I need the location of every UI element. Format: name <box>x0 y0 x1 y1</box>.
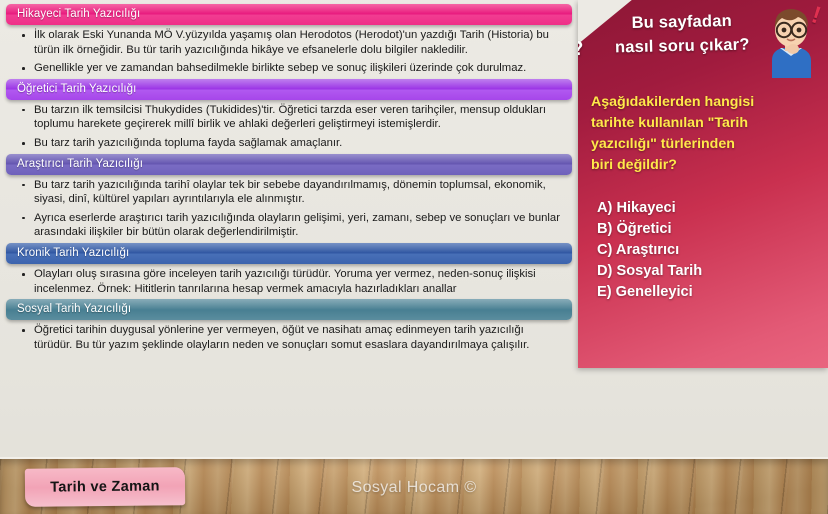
bullet-item: Olayları oluş sırasına göre inceleyen ta… <box>34 267 564 296</box>
question-text: Aşağıdakilerden hangisi tarihte kullanıl… <box>591 92 815 176</box>
answer-option-e[interactable]: E) Genelleyici <box>597 282 815 303</box>
section-block: Öğretici Tarih Yazıcılığı Bu tarzın ilk … <box>6 79 572 151</box>
question-line: yazıcılığı" türlerinden <box>591 134 815 155</box>
section-header-hikayeci: Hikayeci Tarih Yazıcılığı <box>6 4 572 25</box>
bullet-item: İlk olarak Eski Yunanda MÖ V.yüzyılda ya… <box>34 28 564 57</box>
footer-wood-bar: Tarih ve Zaman Sosyal Hocam © <box>0 457 828 514</box>
topic-tag: Tarih ve Zaman <box>25 467 185 507</box>
section-header-sosyal: Sosyal Tarih Yazıcılığı <box>6 299 572 320</box>
bullet-item: Bu tarzın ilk temsilcisi Thukydides (Tuk… <box>34 103 564 132</box>
question-line: biri değildir? <box>591 155 815 176</box>
section-block: Sosyal Tarih Yazıcılığı Öğretici tarihin… <box>6 299 572 352</box>
question-panel-title: Bu sayfadan nasıl soru çıkar? <box>592 8 773 60</box>
section-header-ogretici: Öğretici Tarih Yazıcılığı <box>6 79 572 100</box>
slide-canvas: Hikayeci Tarih Yazıcılığı İlk olarak Esk… <box>0 0 828 514</box>
section-bullets-kronik: Olayları oluş sırasına göre inceleyen ta… <box>6 267 572 296</box>
answer-option-a[interactable]: A) Hikayeci <box>597 198 815 219</box>
topic-tag-label: Tarih ve Zaman <box>50 478 160 495</box>
bullet-item: Bu tarz tarih yazıcılığında tarihî olayl… <box>34 178 564 207</box>
bullet-item: Bu tarz tarih yazıcılığında topluma fayd… <box>34 136 564 151</box>
answer-option-d[interactable]: D) Sosyal Tarih <box>597 261 815 282</box>
question-panel: Bu sayfadan nasıl soru çıkar? ! <box>578 0 828 368</box>
content-column: Hikayeci Tarih Yazıcılığı İlk olarak Esk… <box>0 0 578 460</box>
section-block: Hikayeci Tarih Yazıcılığı İlk olarak Esk… <box>6 4 572 76</box>
question-line: tarihte kullanılan "Tarih <box>591 113 815 134</box>
answer-options-list: A) Hikayeci B) Öğretici C) Araştırıcı D)… <box>591 198 815 303</box>
section-bullets-sosyal: Öğretici tarihin duygusal yönlerine yer … <box>6 323 572 352</box>
thinking-boy-avatar-icon <box>758 4 824 78</box>
section-bullets-arastirici: Bu tarz tarih yazıcılığında tarihî olayl… <box>6 178 572 240</box>
section-header-kronik: Kronik Tarih Yazıcılığı <box>6 243 572 264</box>
question-panel-header: Bu sayfadan nasıl soru çıkar? ! <box>578 0 828 86</box>
bullet-item: Genellikle yer ve zamandan bahsedilmekle… <box>34 61 564 76</box>
bullet-item: Öğretici tarihin duygusal yönlerine yer … <box>34 323 564 352</box>
section-block: Araştırıcı Tarih Yazıcılığı Bu tarz tari… <box>6 154 572 240</box>
bullet-item: Ayrıca eserlerde araştırıcı tarih yazıcı… <box>34 211 564 240</box>
section-bullets-hikayeci: İlk olarak Eski Yunanda MÖ V.yüzyılda ya… <box>6 28 572 76</box>
section-bullets-ogretici: Bu tarzın ilk temsilcisi Thukydides (Tuk… <box>6 103 572 151</box>
answer-option-c[interactable]: C) Araştırıcı <box>597 240 815 261</box>
answer-option-b[interactable]: B) Öğretici <box>597 219 815 240</box>
section-header-arastirici: Araştırıcı Tarih Yazıcılığı <box>6 154 572 175</box>
question-panel-title-line2: nasıl soru çıkar? <box>592 32 772 60</box>
question-panel-body: Aşağıdakilerden hangisi tarihte kullanıl… <box>578 92 828 368</box>
question-mark-icon: ? <box>578 37 586 62</box>
section-block: Kronik Tarih Yazıcılığı Olayları oluş sı… <box>6 243 572 296</box>
question-line: Aşağıdakilerden hangisi <box>591 92 815 113</box>
